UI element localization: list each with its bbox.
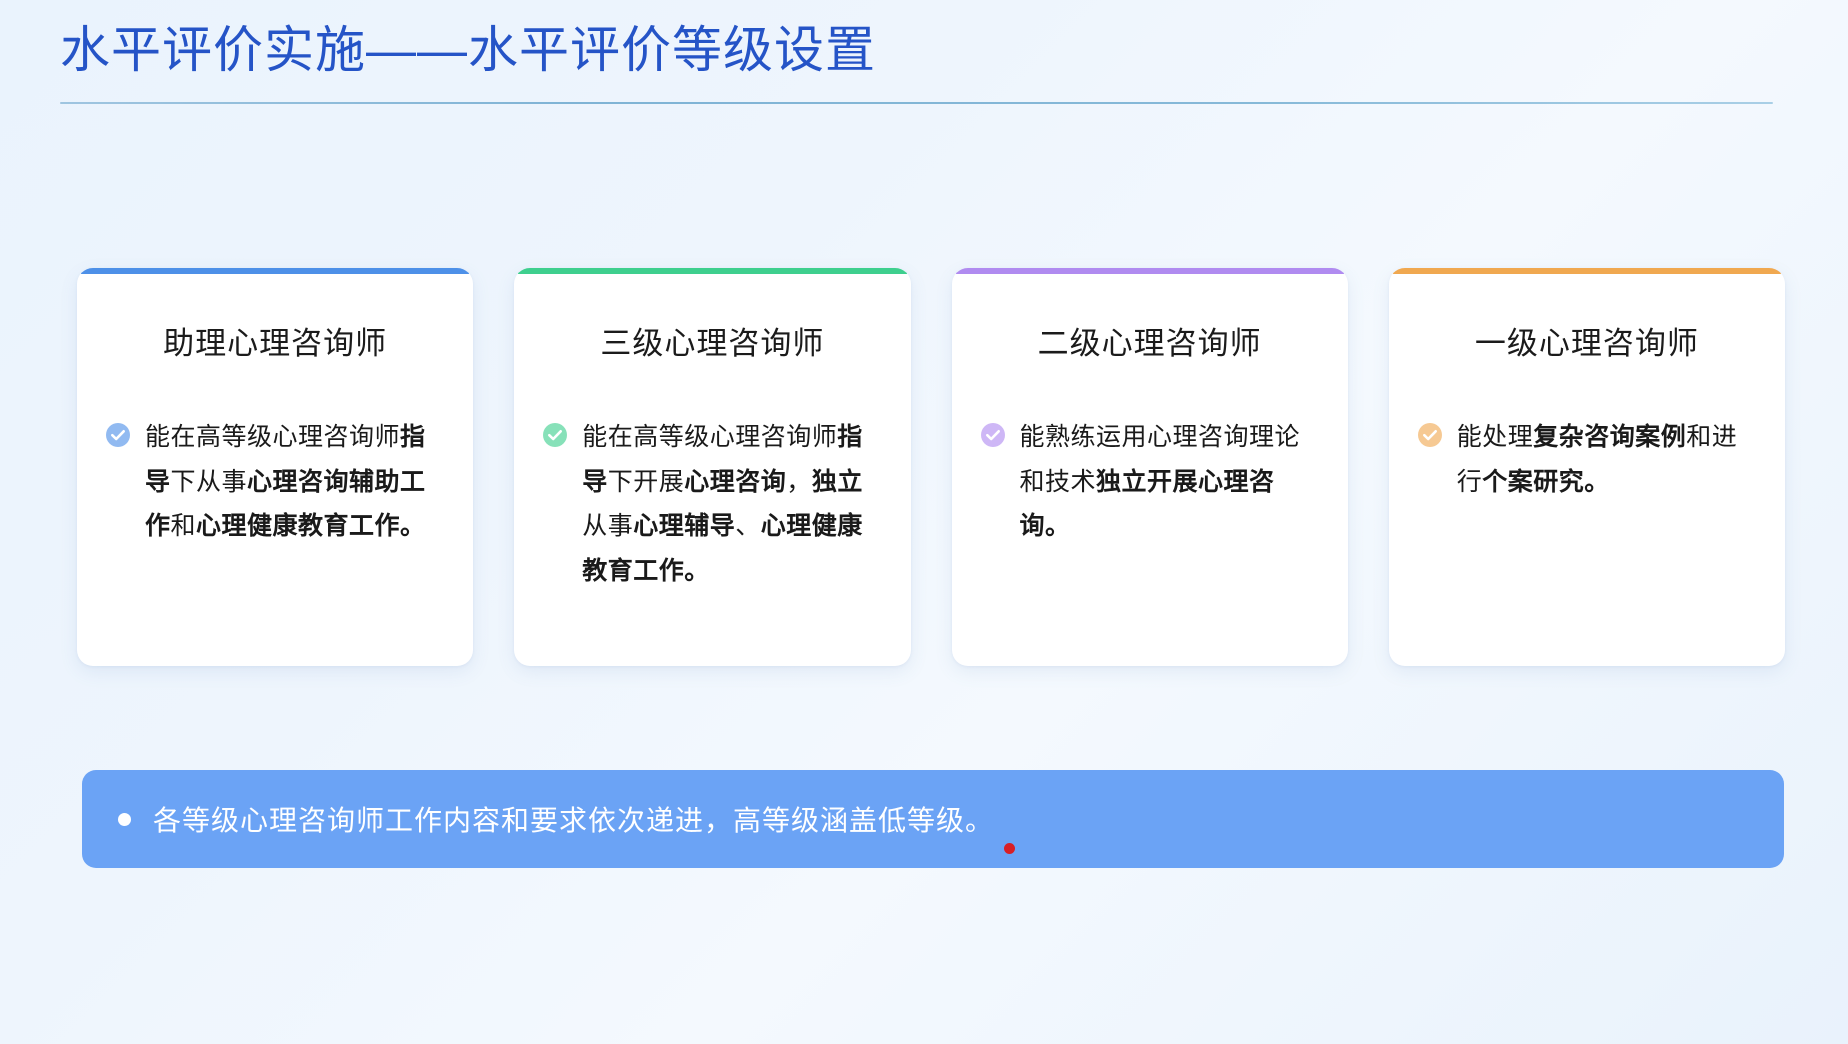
level-card[interactable]: 一级心理咨询师 能处理复杂咨询案例和进行个案研究。 [1389,268,1785,666]
card-body: 能在高等级心理咨询师指导下从事心理咨询辅助工作和心理健康教育工作。 [105,415,445,549]
card-accent-bar [1393,268,1781,274]
check-circle-icon [105,422,131,448]
title-divider [60,102,1773,104]
card-title: 一级心理咨询师 [1417,318,1757,363]
card-title: 三级心理咨询师 [542,318,882,363]
card-description: 能处理复杂咨询案例和进行个案研究。 [1457,415,1757,504]
level-card-list: 助理心理咨询师 能在高等级心理咨询师指导下从事心理咨询辅助工作和心理健康教育工作… [77,268,1785,666]
card-description: 能在高等级心理咨询师指导下从事心理咨询辅助工作和心理健康教育工作。 [145,415,445,549]
card-accent-bar [81,268,469,274]
banner-text: 各等级心理咨询师工作内容和要求依次递进，高等级涵盖低等级。 [153,799,994,839]
card-description: 能熟练运用心理咨询理论和技术独立开展心理咨询。 [1020,415,1320,549]
summary-banner: 各等级心理咨询师工作内容和要求依次递进，高等级涵盖低等级。 [82,770,1784,868]
level-card[interactable]: 二级心理咨询师 能熟练运用心理咨询理论和技术独立开展心理咨询。 [952,268,1348,666]
slide-root: 水平评价实施——水平评价等级设置 助理心理咨询师 能在高等级心理咨询师指导下从事… [0,0,1848,1044]
check-circle-icon [1417,422,1443,448]
card-description: 能在高等级心理咨询师指导下开展心理咨询，独立从事心理辅导、心理健康教育工作。 [582,415,882,593]
cursor-marker [1004,843,1015,854]
card-title: 助理心理咨询师 [105,318,445,363]
card-accent-bar [956,268,1344,274]
level-card[interactable]: 三级心理咨询师 能在高等级心理咨询师指导下开展心理咨询，独立从事心理辅导、心理健… [514,268,910,666]
title-block: 水平评价实施——水平评价等级设置 [60,20,1785,104]
card-body: 能处理复杂咨询案例和进行个案研究。 [1417,415,1757,504]
card-body: 能熟练运用心理咨询理论和技术独立开展心理咨询。 [980,415,1320,549]
page-title: 水平评价实施——水平评价等级设置 [60,20,1785,80]
card-title: 二级心理咨询师 [980,318,1320,363]
banner-bullet-icon [118,813,131,826]
card-accent-bar [518,268,906,274]
check-circle-icon [980,422,1006,448]
card-body: 能在高等级心理咨询师指导下开展心理咨询，独立从事心理辅导、心理健康教育工作。 [542,415,882,593]
check-circle-icon [542,422,568,448]
level-card[interactable]: 助理心理咨询师 能在高等级心理咨询师指导下从事心理咨询辅助工作和心理健康教育工作… [77,268,473,666]
